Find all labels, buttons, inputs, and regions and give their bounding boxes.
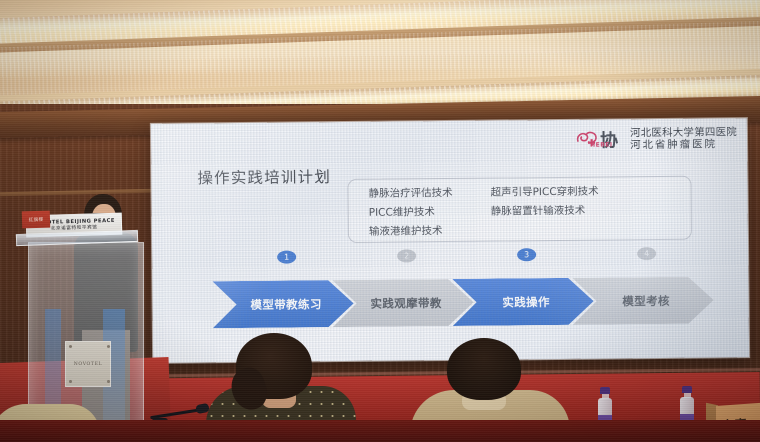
- podium-plaque: NOVOTEL: [65, 341, 111, 387]
- red-banner-text: 红旗楼: [29, 216, 44, 222]
- bottle-cap: [600, 387, 610, 394]
- technique-column-right: 超声引导PICC穿刺技术 静脉留置针输液技术: [490, 184, 599, 240]
- technique-columns: 静脉治疗评估技术 PICC维护技术 输液港维护技术 超声引导PICC穿刺技术 静…: [368, 184, 599, 241]
- presentation-photo-scene: 协 HEBEI 河北医科大学第四医院 河北省肿瘤医院 操作实践培训计划 静脉治疗…: [0, 0, 760, 442]
- speaker-and-podium: NOVOTEL NOVOTEL BEIJING PEACE 北京诺富特和平宾馆 …: [18, 180, 158, 442]
- projection-screen: 协 HEBEI 河北医科大学第四医院 河北省肿瘤医院 操作实践培训计划 静脉治疗…: [151, 118, 749, 363]
- technique-item: 静脉留置针输液技术: [491, 203, 599, 221]
- flow-step-2-label: 实践观摩带教: [370, 295, 442, 312]
- podium-plaque-text: NOVOTEL: [74, 362, 102, 367]
- technique-item: 超声引导PICC穿刺技术: [490, 184, 598, 202]
- step-number-1: 1: [277, 250, 296, 263]
- bottle-cap: [682, 386, 692, 393]
- logo-emblem-icon: 协 HEBEI: [575, 127, 625, 152]
- mic-head: [195, 403, 210, 415]
- flow-step-4: 模型考核: [572, 276, 713, 324]
- process-flow: 1 2 3 4 模型带教练习 实践观摩带教 实践操作 模型考核: [212, 246, 721, 329]
- technique-item: 静脉治疗评估技术: [368, 185, 452, 203]
- technique-item: 输液港维护技术: [369, 223, 453, 241]
- logo-char: 协: [600, 126, 617, 152]
- hospital-name-line2: 河北省肿瘤医院: [630, 139, 737, 152]
- stage-front-face: [0, 420, 760, 442]
- flow-step-1: 模型带教练习: [212, 280, 353, 328]
- hospital-name-block: 河北医科大学第四医院 河北省肿瘤医院: [630, 127, 737, 152]
- slide: 协 HEBEI 河北医科大学第四医院 河北省肿瘤医院 操作实践培训计划 静脉治疗…: [151, 118, 749, 363]
- hospital-logo: 协 HEBEI 河北医科大学第四医院 河北省肿瘤医院: [575, 126, 737, 153]
- flow-step-4-label: 模型考核: [622, 292, 670, 308]
- red-banner-tab: 红旗楼: [22, 211, 50, 229]
- step-number-3: 3: [517, 248, 536, 261]
- flow-step-1-label: 模型带教练习: [250, 296, 322, 313]
- step-number-2: 2: [397, 249, 416, 262]
- flow-step-2: 实践观摩带教: [332, 279, 473, 327]
- technique-list-box: 静脉治疗评估技术 PICC维护技术 输液港维护技术 超声引导PICC穿刺技术 静…: [347, 176, 692, 243]
- technique-column-left: 静脉治疗评估技术 PICC维护技术 输液港维护技术: [368, 185, 453, 241]
- flow-step-3-label: 实践操作: [502, 294, 550, 310]
- logo-subtext: HEBEI: [590, 141, 613, 148]
- flow-step-3: 实践操作: [452, 278, 593, 326]
- step-number-4: 4: [637, 247, 656, 260]
- slide-title: 操作实践培训计划: [197, 165, 331, 188]
- audience-member-2-hair: [447, 338, 521, 400]
- technique-item: PICC维护技术: [369, 204, 453, 222]
